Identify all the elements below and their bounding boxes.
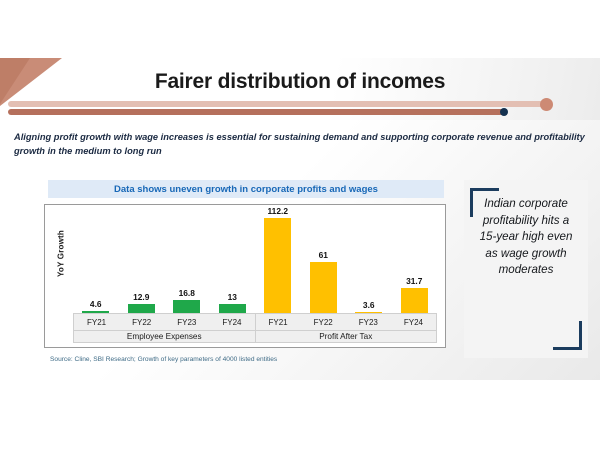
callout-text: Indian corporate profitability hits a 15… xyxy=(474,196,578,279)
axis-tick-label: FY24 xyxy=(209,314,254,330)
chart-frame: YoY Growth 4.612.916.813112.2613.631.7 F… xyxy=(44,204,446,348)
axis-group-label: Employee Expenses xyxy=(74,331,255,342)
axis-tick-label: FY21 xyxy=(74,314,119,330)
accent-rule-dark xyxy=(8,109,504,115)
slide-canvas: Fairer distribution of incomes Aligning … xyxy=(0,58,600,380)
accent-rule-light xyxy=(8,101,545,107)
callout-box: Indian corporate profitability hits a 15… xyxy=(464,180,588,358)
bar[interactable]: 31.7 xyxy=(401,288,428,315)
axis-tick-label: FY23 xyxy=(164,314,209,330)
axis-group-label: Profit After Tax xyxy=(256,331,437,342)
slide-subtitle: Aligning profit growth with wage increas… xyxy=(14,130,586,158)
bar-slot: 3.6 xyxy=(346,211,392,315)
axis-tick-row: FY21FY22FY23FY24 xyxy=(256,314,437,331)
axis-tick-label: FY21 xyxy=(256,314,301,330)
bar[interactable]: 112.2 xyxy=(264,218,291,315)
bar-value-label: 31.7 xyxy=(361,276,468,286)
axis-tick-label: FY22 xyxy=(119,314,164,330)
bar-group-1: 4.612.916.813 xyxy=(73,211,255,315)
axis-tick-label: FY22 xyxy=(301,314,346,330)
axis-tick-label: FY24 xyxy=(391,314,436,330)
bracket-bottom-right-icon xyxy=(553,321,582,350)
bar-slot: 112.2 xyxy=(255,211,301,315)
axis-tick-row: FY21FY22FY23FY24 xyxy=(74,314,255,331)
chart-category-axis: FY21FY22FY23FY24Employee ExpensesFY21FY2… xyxy=(73,313,437,343)
bar-slot: 12.9 xyxy=(119,211,165,315)
chart-banner-title: Data shows uneven growth in corporate pr… xyxy=(48,180,444,198)
accent-dot-salmon-icon xyxy=(540,98,553,111)
accent-dot-navy-icon xyxy=(500,108,508,116)
axis-group-1: FY21FY22FY23FY24Employee Expenses xyxy=(74,314,255,342)
chart-plot-area: 4.612.916.813112.2613.631.7 xyxy=(73,211,437,315)
slide-header: Fairer distribution of incomes xyxy=(0,58,600,120)
y-axis-label: YoY Growth xyxy=(57,224,66,284)
axis-tick-label: FY23 xyxy=(346,314,391,330)
bar-slot: 13 xyxy=(210,211,256,315)
axis-group-2: FY21FY22FY23FY24Profit After Tax xyxy=(255,314,437,342)
chart-panel: Data shows uneven growth in corporate pr… xyxy=(44,180,448,370)
chart-source-note: Source: Cline, SBI Research; Growth of k… xyxy=(50,356,277,363)
bar-group-2: 112.2613.631.7 xyxy=(255,211,437,315)
page-title: Fairer distribution of incomes xyxy=(0,70,600,94)
bar-slot: 31.7 xyxy=(392,211,438,315)
